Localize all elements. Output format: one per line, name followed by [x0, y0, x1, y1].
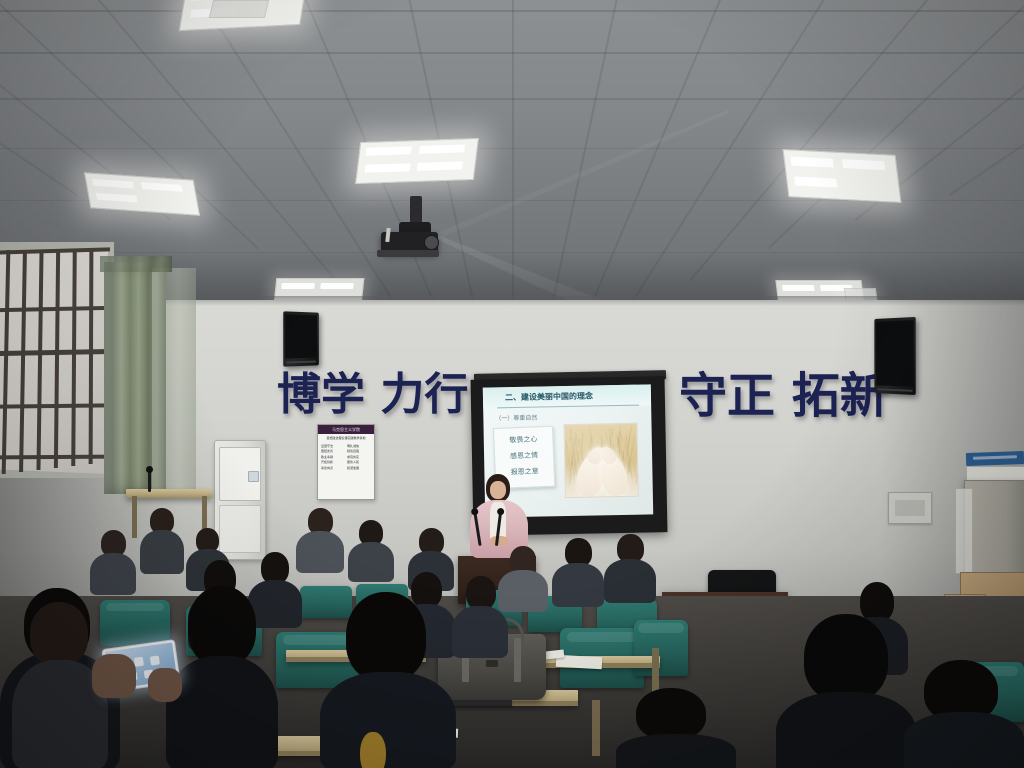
audience-member-foreground [904, 660, 1024, 768]
audience-member [348, 520, 394, 580]
ceiling-seam [689, 0, 962, 281]
poster-item: 开拓创新 [321, 460, 345, 465]
wheat-stalk [635, 458, 639, 484]
ceiling-light-panel [783, 149, 902, 203]
poster-item: 和谐发展 [347, 466, 371, 471]
poster-item: 爱国守法 [321, 444, 345, 449]
cabinet-door-left [955, 488, 973, 574]
projector-base-plate [377, 250, 439, 257]
presenter-hands [490, 536, 508, 546]
poster-item-grid: 爱国守法 明礼诚信 团结友善 勤俭自强 敬业奉献 求真务实 开拓创新 服务人民 … [318, 443, 374, 472]
projector-lens [424, 235, 439, 250]
ceiling-seam [64, 0, 337, 281]
handbag-strap [514, 638, 521, 682]
audience-member-foreground [776, 614, 916, 768]
ceiling-light-panel [209, 0, 269, 18]
slide-photo [563, 423, 638, 498]
window-curtain-valance [100, 256, 172, 272]
lecture-hall-photo: 博学 力行 守正 拓新 马克思主义学院 思想政治理论课实践教学基地 爱国守法 明… [0, 0, 1024, 768]
ceiling-light-panel [355, 138, 479, 184]
audience-member [552, 538, 604, 602]
desk-leg [592, 700, 600, 756]
presenter-face [490, 481, 506, 499]
poster-item: 明礼诚信 [347, 444, 371, 449]
window-security-bar [89, 250, 94, 464]
ac-display-panel [248, 471, 259, 482]
slide-title: 二、建设美丽中国的理念 [505, 391, 593, 404]
poster-item: 勤俭自强 [347, 449, 371, 454]
poster-item: 敬业奉献 [321, 455, 345, 460]
phone-app-icon[interactable] [150, 655, 160, 665]
wall-panel-box [888, 492, 932, 524]
audience-member [140, 508, 184, 572]
audience-member-foreground [320, 592, 456, 768]
audience-member [296, 508, 344, 570]
audience-member-foreground [616, 688, 736, 768]
phone-user-hand [92, 654, 136, 698]
poster-subheader: 思想政治理论课实践教学基地 [318, 434, 374, 442]
handbag-clasp [486, 660, 498, 667]
poster-item: 服务人民 [347, 460, 371, 465]
wall-motto-right: 守正 拓新 [679, 372, 888, 420]
storage-cabinet [964, 480, 1024, 578]
side-table [126, 489, 212, 498]
poster-item: 崇德向善 [321, 466, 345, 471]
slide-card-line: 敬畏之心 [494, 434, 552, 446]
window-curtain-sheer [152, 268, 196, 490]
audience-member [452, 576, 508, 654]
cabinet-sign [966, 451, 1024, 466]
wheat-stalk [633, 463, 637, 477]
wall-poster: 马克思主义学院 思想政治理论课实践教学基地 爱国守法 明礼诚信 团结友善 勤俭自… [317, 424, 375, 500]
table-stand [148, 470, 151, 492]
audience-member [90, 530, 136, 592]
wall-speaker-right [874, 317, 915, 395]
hair-clip [360, 732, 386, 768]
wheat-stalk [620, 431, 623, 442]
wheat-stalk [612, 428, 614, 437]
slide-card-line: 感恩之情 [495, 450, 553, 462]
audience-member [604, 534, 656, 598]
wheat-stalk [581, 432, 583, 452]
audience-member-foreground [166, 586, 278, 768]
window-security-rail [0, 455, 110, 460]
poster-item: 团结友善 [321, 449, 345, 454]
poster-header: 马克思主义学院 [318, 425, 374, 434]
wall-motto-left: 博学 力行 [277, 373, 468, 417]
phone-user-hand [148, 668, 182, 702]
wall-speaker-left [283, 311, 319, 366]
slide-subtitle: （一）尊重自然 [495, 413, 537, 423]
poster-item: 求真务实 [347, 455, 371, 460]
